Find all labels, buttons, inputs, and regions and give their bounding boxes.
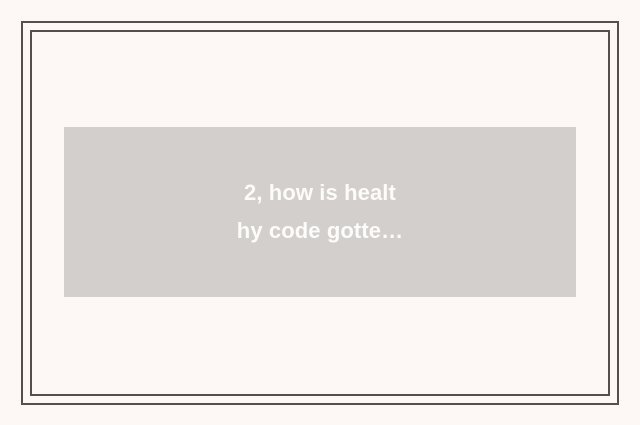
- screenshot-canvas: 2, how is healt hy code gotte…: [0, 0, 640, 425]
- placeholder-image-block: 2, how is healt hy code gotte…: [64, 127, 576, 297]
- placeholder-caption-text: 2, how is healt hy code gotte…: [237, 174, 403, 250]
